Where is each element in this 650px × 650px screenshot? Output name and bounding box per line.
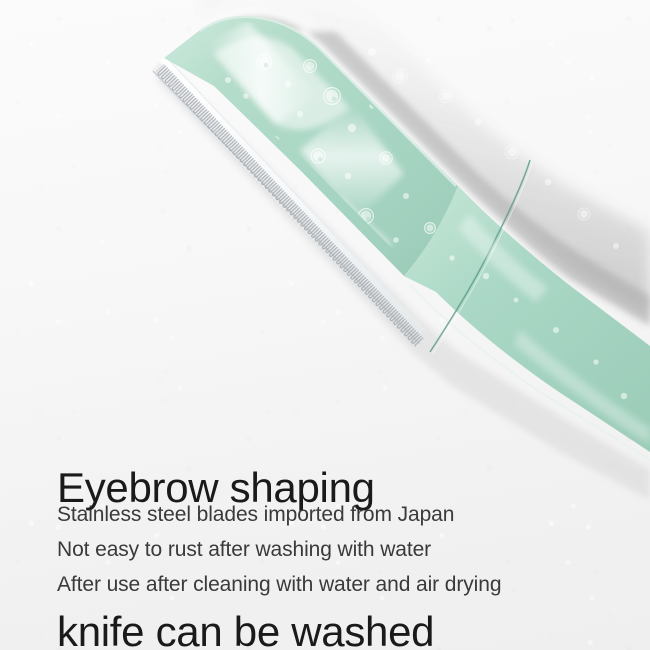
feature-item-1: Stainless steel blades imported from Jap…: [57, 497, 501, 532]
feature-item-2: Not easy to rust after washing with wate…: [57, 532, 501, 567]
feature-item-3: After use after cleaning with water and …: [57, 567, 501, 602]
feature-list: Stainless steel blades imported from Jap…: [57, 497, 501, 602]
headline-line-2: knife can be washed: [57, 608, 434, 650]
product-banner: Eyebrow shaping knife can be washed Stai…: [0, 0, 650, 650]
